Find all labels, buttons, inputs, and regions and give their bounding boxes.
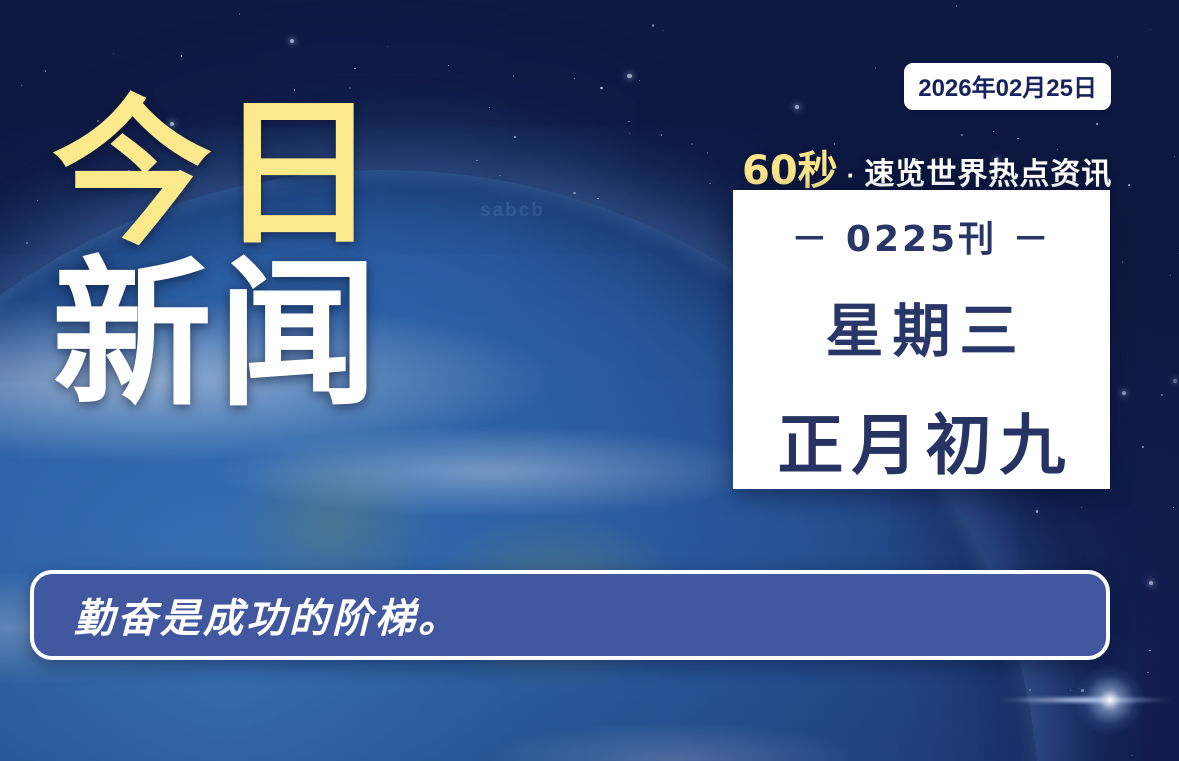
tagline-highlight: 60秒	[742, 138, 838, 196]
tagline-separator-dot: ·	[844, 160, 859, 191]
page-title-line-news: 新闻	[52, 257, 482, 414]
date-badge: 2026年02月25日	[904, 63, 1111, 110]
issue-number-label: － 0225刊 －	[791, 210, 1051, 262]
quote-bar: 勤奋是成功的阶梯。	[30, 570, 1110, 660]
quote-text: 勤奋是成功的阶梯。	[74, 586, 461, 644]
weekday-label: 星期三	[816, 284, 1026, 368]
lunar-date-label: 正月初九	[770, 392, 1074, 488]
bright-star-glow	[1075, 665, 1145, 735]
tagline: 60秒 · 速览世界热点资讯	[742, 138, 1112, 196]
poster-title: 今日 新闻	[52, 96, 482, 414]
watermark-text: sabcb	[480, 200, 545, 222]
issue-info-card: － 0225刊 － 星期三 正月初九	[733, 190, 1110, 489]
poster-canvas: sabcb 2026年02月25日 今日 新闻 60秒 · 速览世界热点资讯 －…	[0, 0, 1179, 761]
page-title-line-today: 今日	[52, 96, 482, 253]
tagline-text: 速览世界热点资讯	[864, 149, 1112, 193]
